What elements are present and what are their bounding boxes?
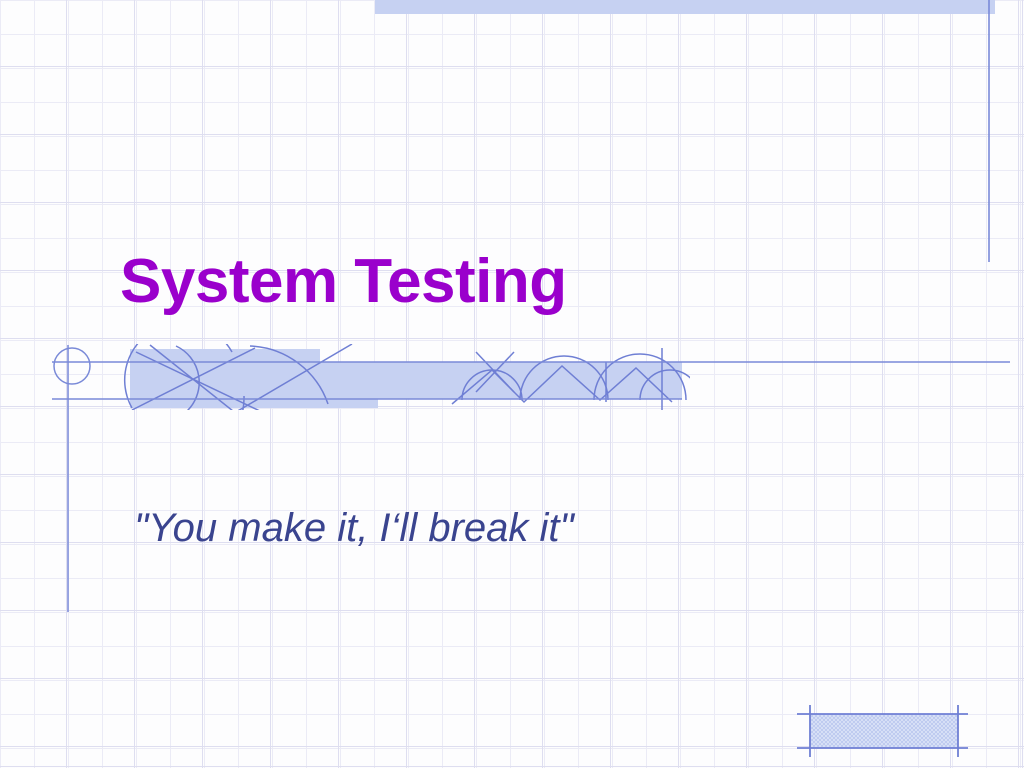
top-band-group: [375, 0, 995, 262]
slide-title: System Testing: [120, 251, 920, 313]
header-band-lower: [130, 399, 378, 408]
band-doodles: [118, 323, 700, 461]
header-band-main: [130, 362, 682, 399]
hatched-block-group: [797, 705, 968, 757]
slide-subtitle-quote: "You make it, I‘ll break it": [134, 506, 934, 550]
decorative-graphics: [0, 0, 1024, 768]
top-band: [375, 0, 995, 14]
slide-canvas: System Testing "You make it, I‘ll break …: [0, 0, 1024, 768]
grid-major-lines: [0, 0, 1024, 768]
hatched-rect: [810, 714, 958, 748]
header-band-tail: [638, 362, 682, 388]
left-decoration-group: [52, 345, 1010, 612]
header-band-group: [130, 349, 682, 408]
header-band-upper: [130, 349, 320, 363]
grid-minor-lines: [0, 0, 1024, 768]
left-circle: [54, 348, 90, 384]
